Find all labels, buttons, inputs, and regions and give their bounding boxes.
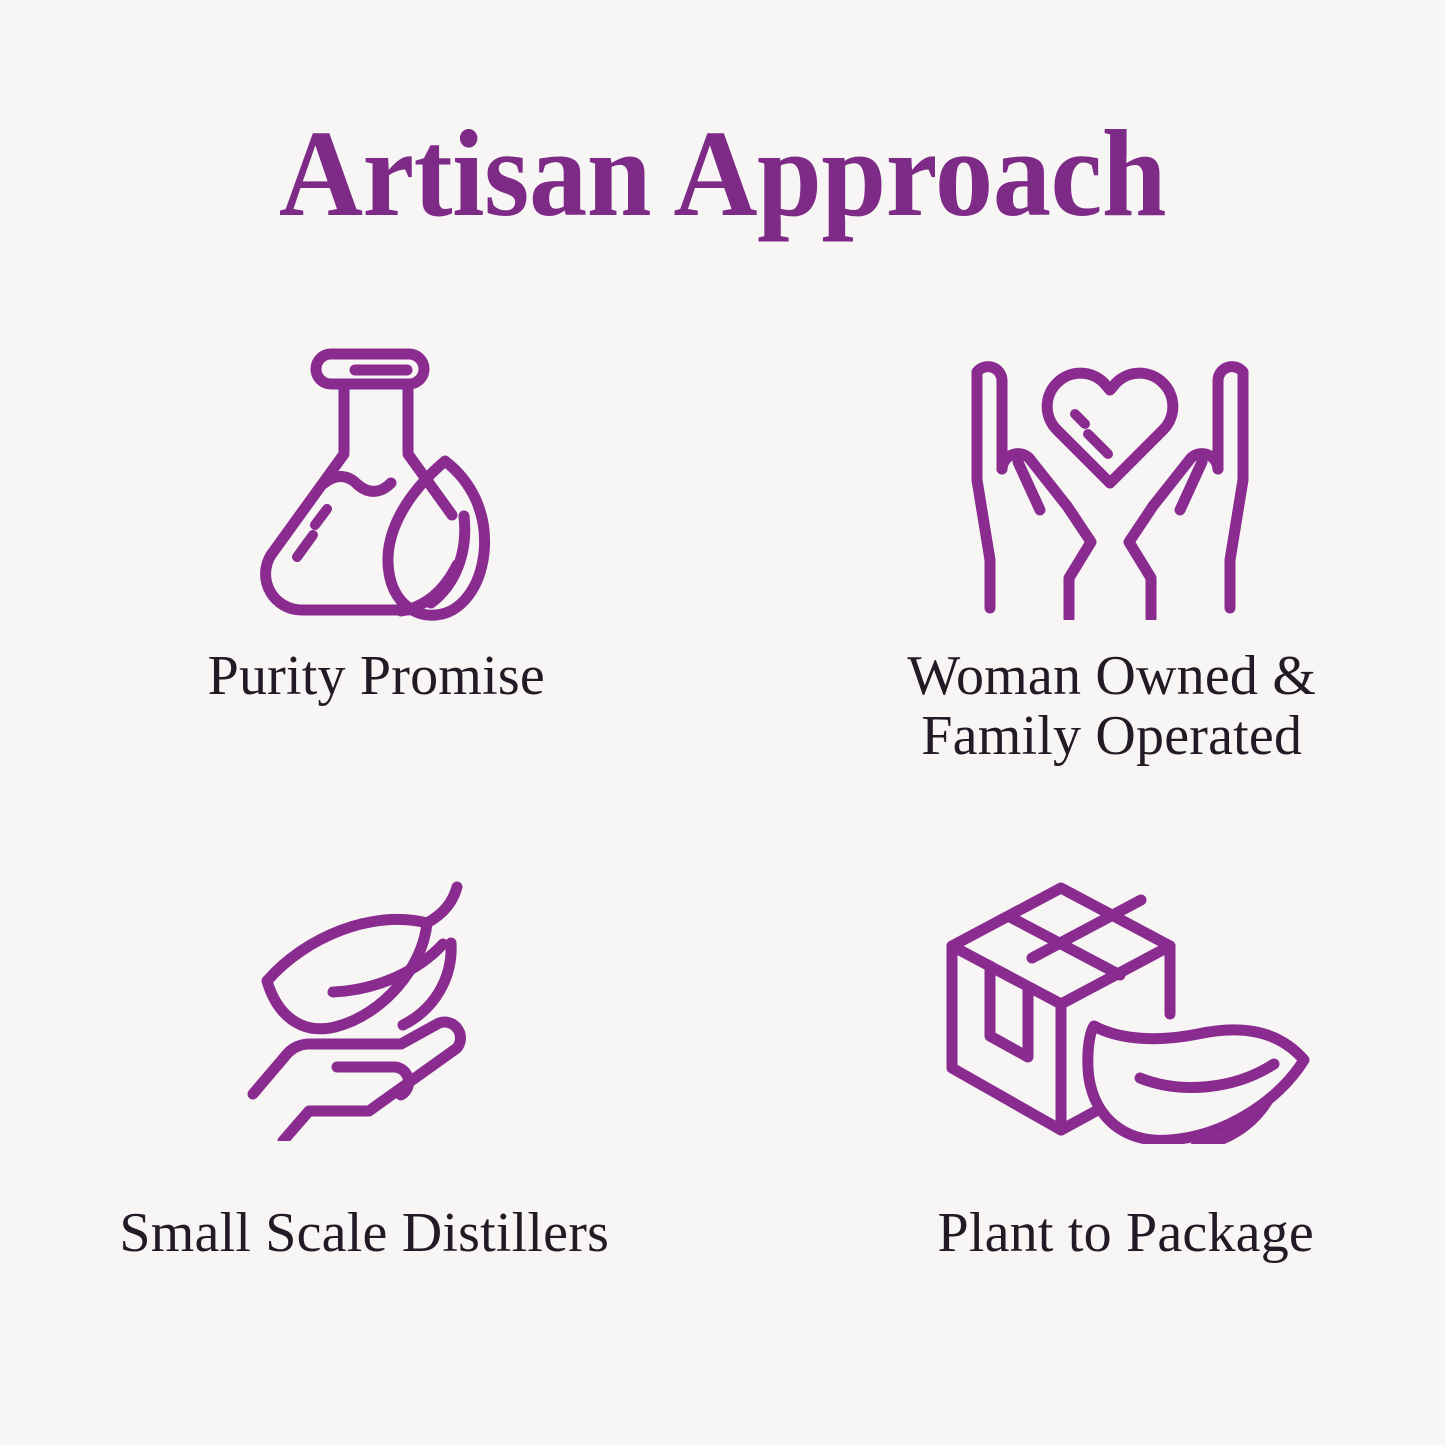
feature-label: Purity Promise	[208, 646, 545, 706]
feature-purity-promise: Purity Promise	[0, 330, 723, 845]
page-title: Artisan Approach	[43, 112, 1401, 236]
feature-grid: Purity Promise	[0, 330, 1445, 1360]
feature-label: Woman Owned & Family Operated	[907, 646, 1316, 767]
feature-label: Small Scale Distillers	[119, 1203, 609, 1263]
feature-plant-to-package: Plant to Package	[723, 845, 1445, 1360]
hand-holding-leaf-icon	[245, 861, 495, 1161]
artisan-approach-infographic: Artisan Approach	[0, 0, 1445, 1445]
feature-label: Plant to Package	[938, 1203, 1314, 1263]
hands-holding-heart-icon	[955, 330, 1265, 630]
flask-leaf-icon	[249, 328, 519, 628]
feature-small-scale-distillers: Small Scale Distillers	[0, 845, 723, 1360]
feature-woman-owned: Woman Owned & Family Operated	[723, 330, 1445, 845]
package-box-leaf-icon	[934, 859, 1314, 1159]
